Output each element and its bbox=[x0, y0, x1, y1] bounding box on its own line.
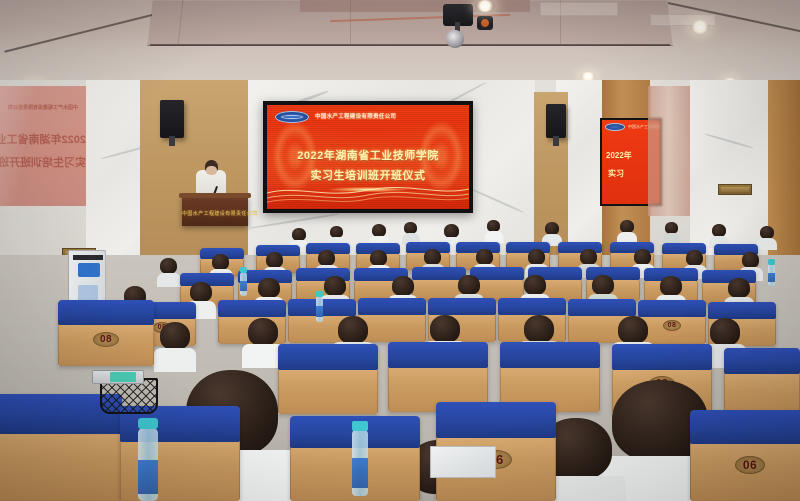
attendee bbox=[160, 258, 177, 282]
auditorium-seat[interactable]: 08 bbox=[638, 300, 706, 344]
wall-speaker-right bbox=[546, 104, 566, 138]
attendee bbox=[404, 222, 417, 241]
seat-cushion bbox=[498, 298, 566, 315]
podium: 中国水产工程建设有限责任公司 bbox=[182, 196, 248, 226]
attendee-head bbox=[710, 318, 740, 346]
seat-cushion bbox=[612, 344, 712, 370]
attendee-head bbox=[580, 249, 597, 265]
seat-cushion bbox=[428, 298, 496, 315]
led-wave-glow bbox=[328, 187, 409, 192]
ceiling-recess bbox=[300, 0, 530, 12]
bottle-cap bbox=[240, 267, 247, 273]
auditorium-seat[interactable] bbox=[724, 348, 800, 418]
ceiling-tile bbox=[540, 2, 618, 16]
seat-cushion bbox=[58, 300, 154, 325]
ceiling-edge-line-left bbox=[4, 14, 152, 53]
attendee bbox=[248, 318, 278, 358]
attendee-shirt bbox=[157, 273, 181, 287]
podium-top-surface bbox=[179, 193, 251, 198]
attendee-head bbox=[528, 249, 545, 265]
attendee-head bbox=[258, 278, 280, 298]
attendee-head bbox=[660, 276, 682, 296]
speaker-face bbox=[206, 166, 217, 175]
water-bottle[interactable] bbox=[138, 428, 158, 501]
attendee-head bbox=[476, 249, 493, 265]
attendee bbox=[444, 224, 459, 244]
water-bottle[interactable] bbox=[240, 272, 247, 296]
ceiling bbox=[0, 0, 800, 86]
secondary-title-1: 2022年 bbox=[606, 150, 632, 161]
attendee-head bbox=[728, 278, 750, 298]
bottle-label bbox=[138, 460, 158, 494]
attendee-head bbox=[424, 249, 441, 265]
screen-reflection-left-wall: 中国水产工程建设有限责任公司 2022年湖南省工业技师学院 实习生培训班开班仪式 bbox=[0, 86, 86, 206]
attendee bbox=[545, 222, 559, 242]
bottle-label bbox=[768, 273, 775, 282]
ceiling-seam bbox=[350, 0, 351, 46]
attendee-head bbox=[392, 276, 414, 296]
attendee-shirt bbox=[757, 238, 777, 250]
attendee bbox=[160, 322, 190, 362]
seat-cushion bbox=[218, 300, 286, 317]
led-screen-frame: 中国水产工程建设有限责任公司 2022年湖南省工业技师学院 实习生培训班开班仪式 bbox=[263, 101, 473, 213]
folding-desk-tablet[interactable] bbox=[430, 446, 496, 478]
attendee-head bbox=[686, 250, 703, 266]
wall-speaker-left bbox=[160, 100, 184, 138]
seat-back-wood bbox=[0, 429, 122, 501]
auditorium-seat[interactable]: 08 bbox=[58, 300, 154, 366]
seat-number-badge: 08 bbox=[663, 320, 681, 331]
ceiling-downlight bbox=[690, 20, 710, 34]
seat-number-badge: 08 bbox=[93, 332, 119, 347]
attendee-head bbox=[444, 224, 459, 238]
seat-number-badge: 06 bbox=[735, 456, 765, 474]
attendee-head bbox=[338, 316, 368, 344]
attendee-head bbox=[324, 276, 346, 296]
attendee-head bbox=[618, 316, 648, 344]
bottle-cap bbox=[316, 291, 323, 297]
auditorium-seat[interactable] bbox=[358, 298, 426, 342]
attendee-head bbox=[524, 315, 554, 343]
attendee-head bbox=[160, 322, 190, 350]
water-bottle[interactable] bbox=[768, 264, 775, 286]
seat-cushion bbox=[724, 348, 800, 374]
seat-cushion bbox=[500, 342, 600, 368]
water-bottle[interactable] bbox=[352, 430, 368, 496]
company-name-text: 中国水产工程建设有限责任公司 bbox=[315, 112, 396, 120]
bottle-cap bbox=[352, 421, 368, 431]
bottle-cap bbox=[768, 259, 775, 265]
podium-banner-text: 中国水产工程建设有限责任公司 bbox=[182, 210, 248, 217]
attendee-head bbox=[248, 318, 278, 346]
attendee-head bbox=[524, 275, 546, 295]
event-title-line-1: 2022年湖南省工业技师学院 bbox=[267, 147, 469, 163]
bottle-label bbox=[352, 458, 368, 488]
auditorium-seat[interactable]: 06 bbox=[690, 410, 800, 501]
attendee-head bbox=[430, 315, 460, 343]
bottle-label bbox=[316, 306, 323, 317]
exit-sign-plaque bbox=[718, 184, 752, 195]
attendee bbox=[712, 224, 726, 244]
attendee-head bbox=[458, 275, 480, 295]
attendee-shirt bbox=[154, 348, 196, 372]
attendee-head bbox=[212, 254, 229, 270]
ceiling-camera bbox=[477, 16, 493, 30]
seat-cushion bbox=[568, 299, 636, 316]
projector-lens bbox=[446, 30, 464, 48]
attendee-head bbox=[592, 275, 614, 295]
attendee bbox=[487, 220, 500, 239]
seat-cushion bbox=[638, 300, 706, 317]
seat-cushion bbox=[278, 344, 378, 370]
seat-cushion bbox=[436, 402, 556, 438]
glass-pillar-occluder bbox=[648, 86, 690, 216]
seat-cushion bbox=[358, 298, 426, 315]
seat-back-wood bbox=[358, 313, 426, 342]
bottle-label bbox=[240, 281, 247, 291]
attendee-head bbox=[370, 250, 387, 266]
attendee-head bbox=[634, 249, 651, 265]
led-wave-decoration bbox=[267, 181, 469, 207]
bottle-cap bbox=[138, 418, 158, 429]
auditorium-seat[interactable] bbox=[278, 344, 378, 414]
attendee bbox=[620, 220, 634, 240]
wave-lines-svg bbox=[267, 181, 469, 207]
seat-cushion bbox=[690, 410, 800, 444]
recycle-label-icon bbox=[78, 263, 100, 277]
wood-wall-panel-left bbox=[140, 80, 248, 270]
attendee bbox=[665, 222, 678, 241]
secondary-company-logo-icon bbox=[605, 123, 625, 131]
exit-sign-plaque-face bbox=[721, 187, 749, 192]
conference-hall-photo: 中国水产工程建设有限责任公司 2022年湖南省工业技师学院 实习生培训班开班仪式… bbox=[0, 0, 800, 501]
dispenser-top-strip bbox=[73, 255, 103, 260]
seat-back-wood bbox=[278, 368, 378, 414]
ceiling-downlight bbox=[475, 0, 495, 12]
company-logo-icon bbox=[275, 111, 309, 123]
attendee-head bbox=[318, 250, 335, 266]
attendee bbox=[372, 224, 386, 244]
attendee-head bbox=[266, 252, 283, 268]
seat-cushion bbox=[708, 302, 776, 319]
attendee-head bbox=[742, 252, 759, 268]
attendee bbox=[760, 226, 774, 246]
water-bottle[interactable] bbox=[316, 296, 323, 322]
led-screen: 中国水产工程建设有限责任公司 2022年湖南省工业技师学院 实习生培训班开班仪式 bbox=[267, 105, 469, 209]
reflection-sheen bbox=[0, 86, 86, 206]
attendee-head bbox=[160, 258, 177, 274]
seat-cushion bbox=[388, 342, 488, 368]
notebook[interactable] bbox=[110, 372, 136, 382]
ceiling-edge-line bbox=[150, 44, 670, 46]
attendee-head bbox=[190, 282, 212, 302]
secondary-title-2: 实习 bbox=[608, 168, 624, 179]
